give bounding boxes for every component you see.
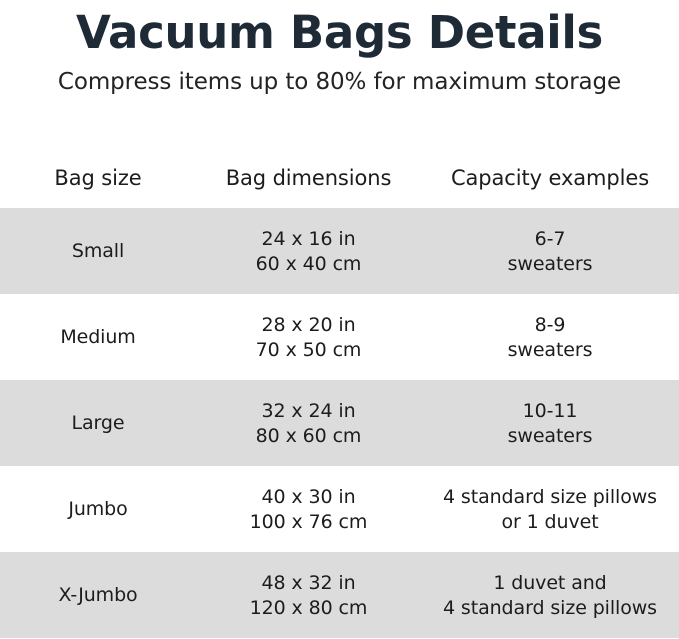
bag-specs-table: Bag size Bag dimensions Capacity example… [0, 148, 679, 638]
table-row: Small 24 x 16 in 60 x 40 cm 6-7 sweaters [0, 208, 679, 294]
capacity-line-2: or 1 duvet [421, 510, 679, 534]
table-row: X-Jumbo 48 x 32 in 120 x 80 cm 1 duvet a… [0, 552, 679, 638]
cell-capacity-examples: 8-9 sweaters [421, 294, 679, 380]
cell-bag-size: Large [0, 380, 196, 466]
page-header: Vacuum Bags Details Compress items up to… [0, 0, 679, 97]
cell-capacity-examples: 6-7 sweaters [421, 208, 679, 294]
dimensions-inches: 24 x 16 in [196, 227, 421, 251]
capacity-line-2: sweaters [421, 338, 679, 362]
table-row: Medium 28 x 20 in 70 x 50 cm 8-9 sweater… [0, 294, 679, 380]
cell-bag-dimensions: 48 x 32 in 120 x 80 cm [196, 552, 421, 638]
table-header-row: Bag size Bag dimensions Capacity example… [0, 148, 679, 208]
dimensions-centimeters: 120 x 80 cm [196, 596, 421, 620]
dimensions-inches: 48 x 32 in [196, 571, 421, 595]
capacity-line-1: 4 standard size pillows [421, 485, 679, 509]
table-row: Jumbo 40 x 30 in 100 x 76 cm 4 standard … [0, 466, 679, 552]
cell-bag-size: Medium [0, 294, 196, 380]
cell-bag-size: Jumbo [0, 466, 196, 552]
vacuum-bags-details-page: Vacuum Bags Details Compress items up to… [0, 0, 679, 639]
page-title: Vacuum Bags Details [0, 4, 679, 62]
capacity-line-2: sweaters [421, 252, 679, 276]
capacity-line-1: 6-7 [421, 227, 679, 251]
table-header: Bag size Bag dimensions Capacity example… [0, 148, 679, 208]
capacity-line-2: sweaters [421, 424, 679, 448]
table-body: Small 24 x 16 in 60 x 40 cm 6-7 sweaters… [0, 208, 679, 638]
cell-capacity-examples: 10-11 sweaters [421, 380, 679, 466]
column-header-bag-size: Bag size [0, 148, 196, 208]
dimensions-centimeters: 60 x 40 cm [196, 252, 421, 276]
cell-capacity-examples: 4 standard size pillows or 1 duvet [421, 466, 679, 552]
cell-bag-size: Small [0, 208, 196, 294]
cell-bag-size: X-Jumbo [0, 552, 196, 638]
table-row: Large 32 x 24 in 80 x 60 cm 10-11 sweate… [0, 380, 679, 466]
column-header-bag-dimensions: Bag dimensions [196, 148, 421, 208]
cell-bag-dimensions: 32 x 24 in 80 x 60 cm [196, 380, 421, 466]
cell-bag-dimensions: 28 x 20 in 70 x 50 cm [196, 294, 421, 380]
column-header-capacity-examples: Capacity examples [421, 148, 679, 208]
dimensions-inches: 32 x 24 in [196, 399, 421, 423]
capacity-line-1: 1 duvet and [421, 571, 679, 595]
dimensions-centimeters: 80 x 60 cm [196, 424, 421, 448]
dimensions-centimeters: 100 x 76 cm [196, 510, 421, 534]
capacity-line-1: 8-9 [421, 313, 679, 337]
cell-bag-dimensions: 24 x 16 in 60 x 40 cm [196, 208, 421, 294]
dimensions-inches: 40 x 30 in [196, 485, 421, 509]
page-subtitle: Compress items up to 80% for maximum sto… [0, 67, 679, 97]
capacity-line-2: 4 standard size pillows [421, 596, 679, 620]
capacity-line-1: 10-11 [421, 399, 679, 423]
cell-capacity-examples: 1 duvet and 4 standard size pillows [421, 552, 679, 638]
cell-bag-dimensions: 40 x 30 in 100 x 76 cm [196, 466, 421, 552]
dimensions-centimeters: 70 x 50 cm [196, 338, 421, 362]
dimensions-inches: 28 x 20 in [196, 313, 421, 337]
